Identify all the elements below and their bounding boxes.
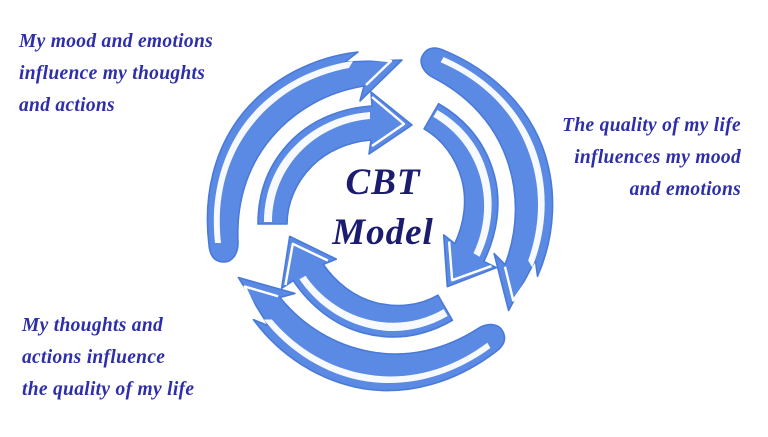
caption-bottom-left-line-2: actions influence: [22, 342, 194, 374]
caption-right-line-1: The quality of my life: [562, 110, 741, 142]
center-title-line-1: CBT: [253, 158, 513, 208]
caption-right-line-2: influences my mood: [562, 142, 741, 174]
caption-top-left-line-2: influence my thoughts: [19, 58, 213, 90]
cbt-model-diagram: CBT Model My mood and emotions influence…: [0, 0, 768, 437]
caption-bottom-left: My thoughts and actions influence the qu…: [22, 310, 194, 406]
caption-top-left-line-3: and actions: [19, 90, 213, 122]
caption-bottom-left-line-1: My thoughts and: [22, 310, 194, 342]
center-title-line-2: Model: [253, 208, 513, 258]
caption-top-left: My mood and emotions influence my though…: [19, 26, 213, 122]
caption-right-line-3: and emotions: [562, 174, 741, 206]
caption-bottom-left-line-3: the quality of my life: [22, 374, 194, 406]
caption-right: The quality of my life influences my moo…: [562, 110, 741, 206]
center-title: CBT Model: [253, 158, 513, 258]
caption-top-left-line-1: My mood and emotions: [19, 26, 213, 58]
